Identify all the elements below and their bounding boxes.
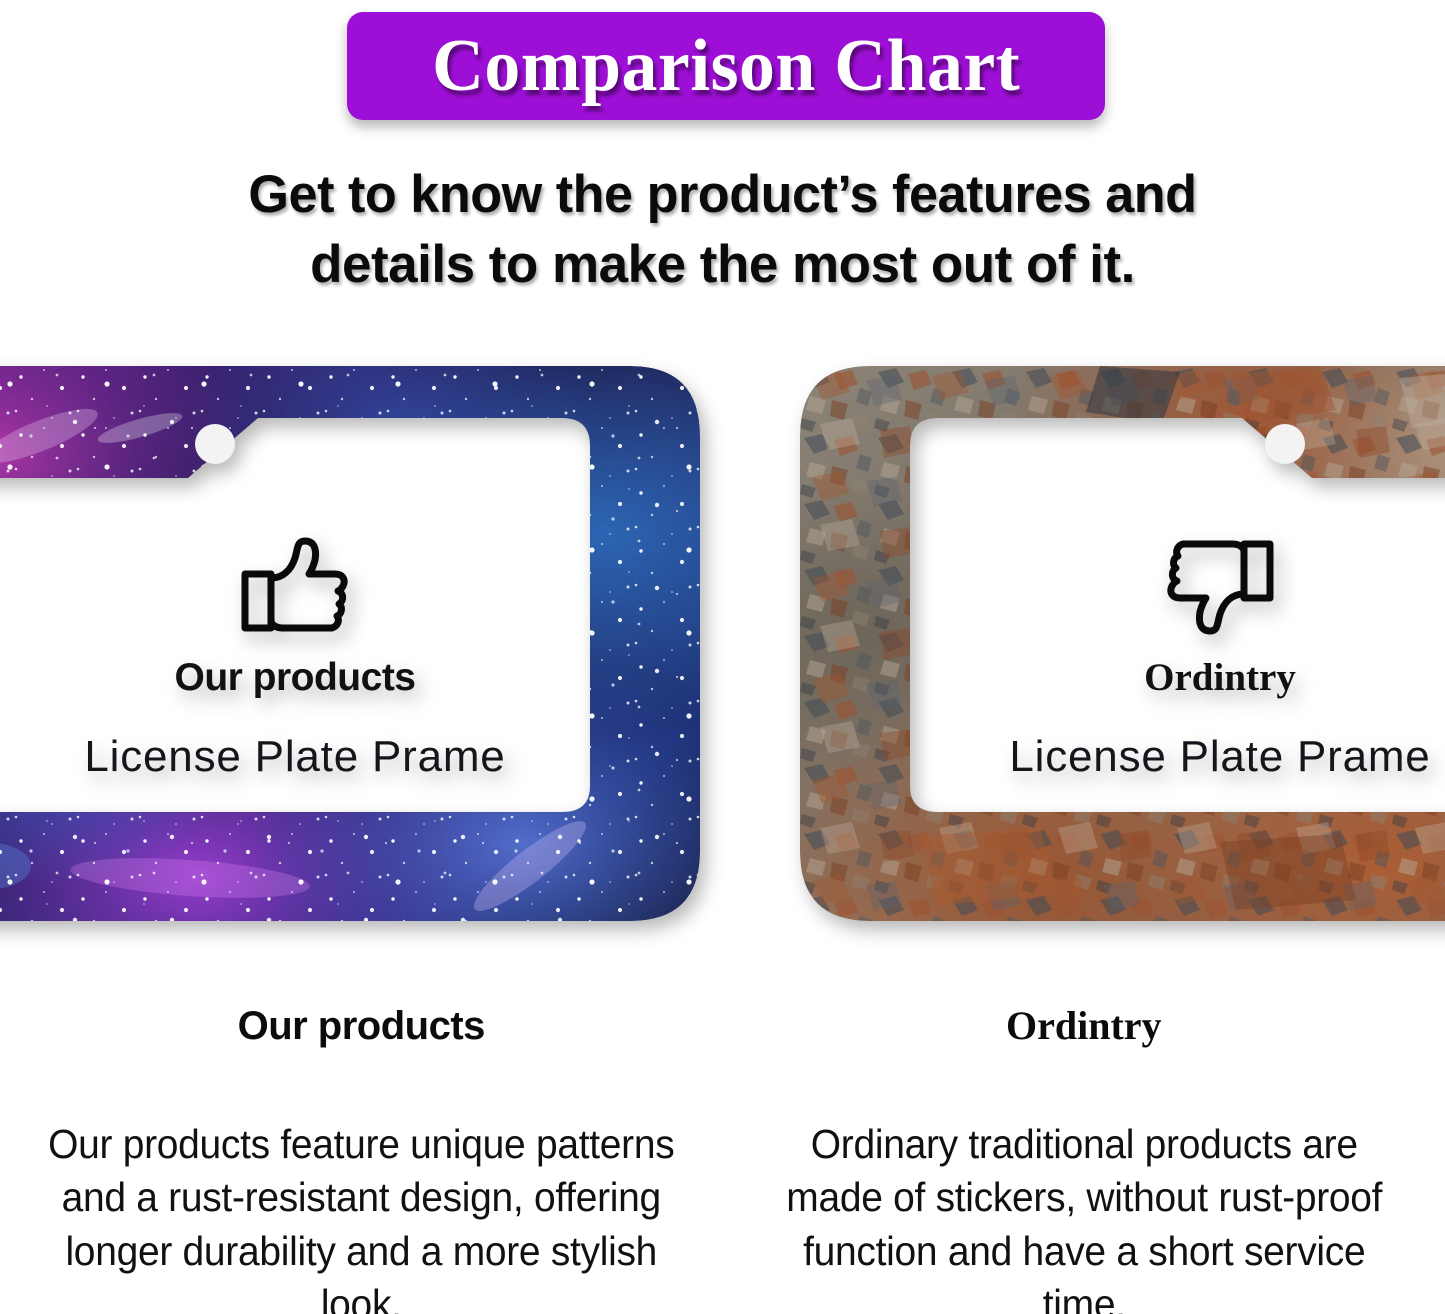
ordinary-heading: Ordintry [753, 1006, 1416, 1046]
comparison-chart-page: Comparison Chart Get to know the product… [0, 0, 1445, 1314]
ordinary-description-column: Ordintry Ordinary traditional products a… [723, 992, 1445, 1314]
subtitle-line-2: details to make the most out of it. [0, 230, 1445, 300]
mounting-hole [1265, 424, 1305, 464]
subtitle: Get to know the product’s features and d… [0, 160, 1445, 301]
product-frames-row: Our products License Plate Prame [0, 366, 1445, 926]
our-products-description: Our products feature unique patterns and… [47, 1118, 676, 1314]
galaxy-license-plate-frame [0, 366, 700, 921]
subtitle-line-1: Get to know the product’s features and [11, 160, 1434, 230]
title-banner: Comparison Chart [347, 12, 1105, 120]
page-title: Comparison Chart [432, 29, 1020, 103]
mounting-hole [195, 424, 235, 464]
descriptions-row: Our products Our products feature unique… [0, 992, 1445, 1314]
our-products-description-column: Our products Our products feature unique… [0, 992, 723, 1314]
our-products-heading: Our products [30, 1006, 693, 1046]
our-product-frame-image: Our products License Plate Prame [0, 366, 700, 921]
ordinary-product-frame-image: Ordintry License Plate Prame [800, 366, 1445, 921]
rusted-license-plate-frame [800, 366, 1445, 921]
ordinary-description: Ordinary traditional products are made o… [769, 1118, 1398, 1314]
